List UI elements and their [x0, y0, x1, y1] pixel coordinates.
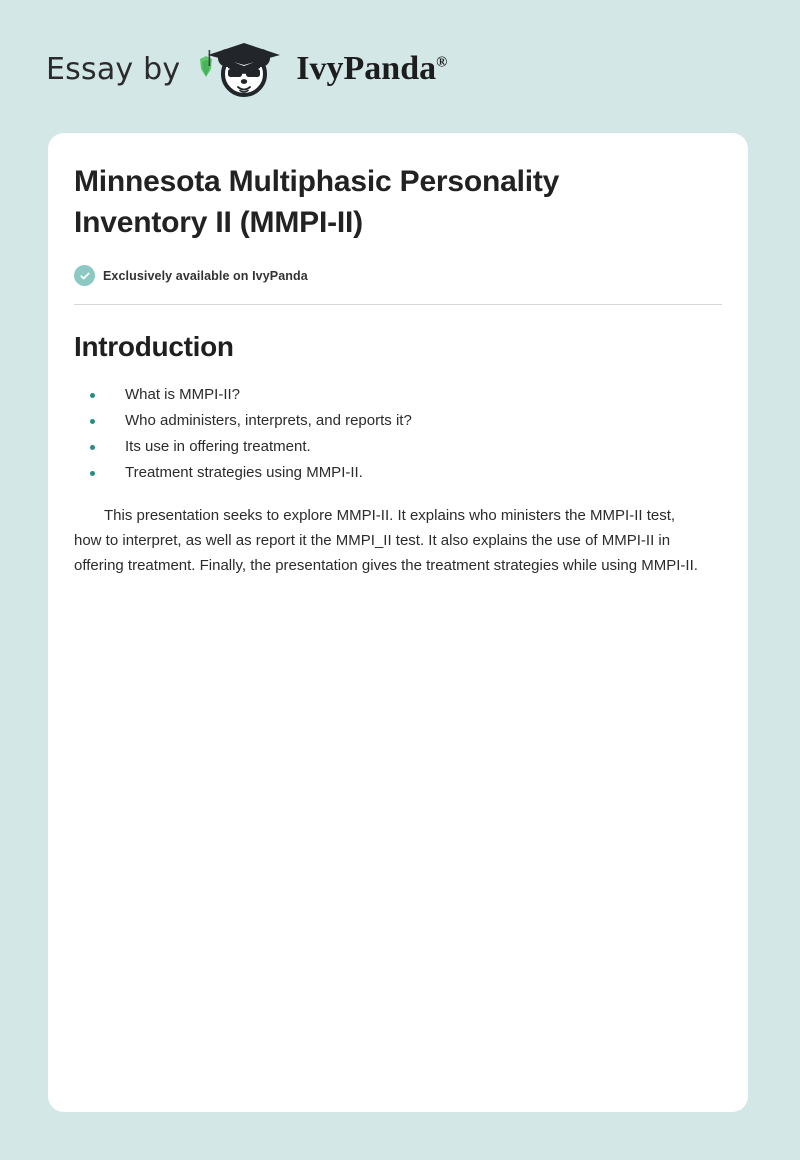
list-item: What is MMPI-II?: [74, 387, 722, 403]
list-item: Its use in offering treatment.: [74, 439, 722, 455]
list-item-label: Who administers, interprets, and reports…: [125, 413, 412, 429]
document-card: Minnesota Multiphasic Personality Invent…: [48, 133, 748, 1112]
status-badge-label: Exclusively available on IvyPanda: [103, 269, 308, 283]
page-title: Minnesota Multiphasic Personality Invent…: [74, 161, 684, 243]
list-item: Treatment strategies using MMPI-II.: [74, 465, 722, 481]
list-item-label: Treatment strategies using MMPI-II.: [125, 465, 363, 481]
section-heading-introduction: Introduction: [74, 331, 722, 363]
bullet-dot-icon: [90, 445, 95, 450]
document-content: Minnesota Multiphasic Personality Invent…: [48, 133, 748, 578]
brand-wordmark-text: IvyPanda: [296, 50, 436, 87]
introduction-bullet-list: What is MMPI-II? Who administers, interp…: [74, 387, 722, 481]
bullet-dot-icon: [90, 419, 95, 424]
list-item-label: What is MMPI-II?: [125, 387, 240, 403]
status-badge: Exclusively available on IvyPanda: [74, 265, 722, 286]
brand-header: Essay by I: [46, 38, 447, 100]
panda-graduate-logo-icon: [194, 38, 290, 100]
bullet-dot-icon: [90, 471, 95, 476]
check-circle-icon: [74, 265, 95, 286]
brand-wordmark: IvyPanda®: [296, 50, 447, 88]
list-item: Who administers, interprets, and reports…: [74, 413, 722, 429]
essay-by-label: Essay by: [46, 52, 180, 87]
list-item-label: Its use in offering treatment.: [125, 439, 311, 455]
divider: [74, 304, 722, 305]
registered-trademark-mark: ®: [436, 55, 447, 71]
introduction-paragraph: This presentation seeks to explore MMPI-…: [74, 503, 704, 578]
bullet-dot-icon: [90, 393, 95, 398]
